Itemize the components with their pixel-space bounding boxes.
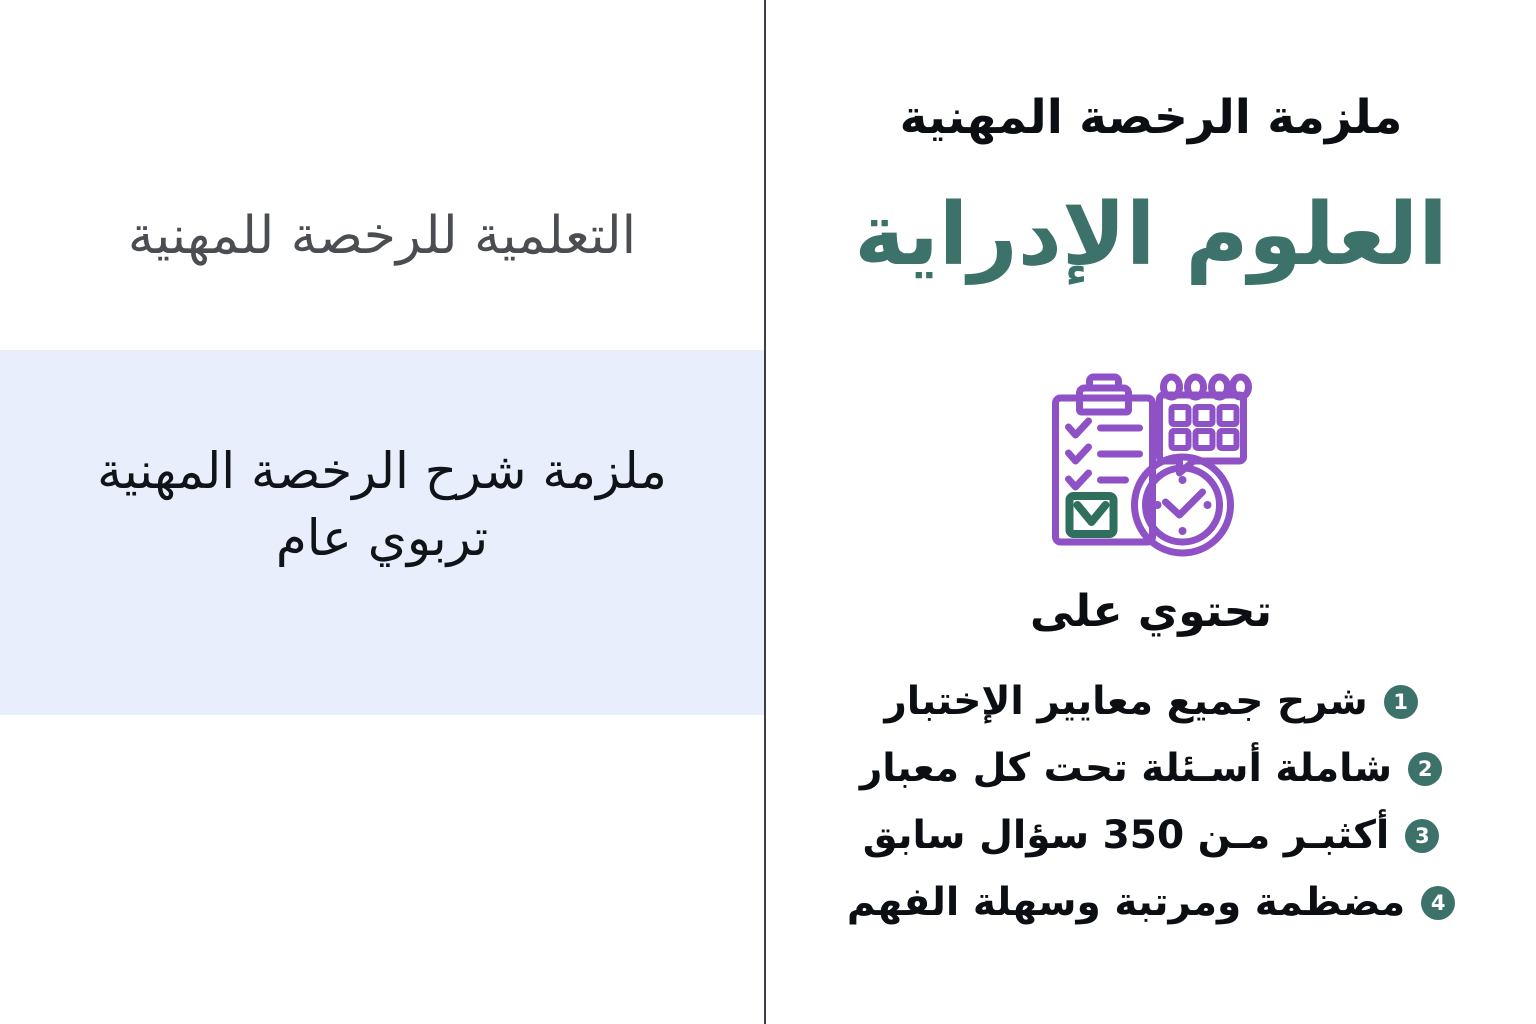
feature-list: 1 شرح جميع معايير الإختبار 2 شاملة أسـئل… [766,676,1536,944]
subject-heading: العلوم الإدراية [766,186,1536,285]
feature-number-badge: 2 [1408,752,1442,786]
promo-page: التعلمية للرخصة للمهنية ملزمة شرح الرخصة… [0,0,1536,1024]
list-item: 1 شرح جميع معايير الإختبار [766,676,1536,728]
highlight-band-text: ملزمة شرح الرخصة المهنية تربوي عام [0,438,764,572]
feature-text: أكثبـر مـن 350 سؤال سابق [863,814,1390,859]
highlight-line-1: ملزمة شرح الرخصة المهنية [97,442,667,500]
feature-number-badge: 4 [1421,886,1455,920]
contains-label: تحتوي على [766,586,1536,637]
left-panel: التعلمية للرخصة للمهنية ملزمة شرح الرخصة… [0,0,764,1024]
left-panel-highlight-band: ملزمة شرح الرخصة المهنية تربوي عام [0,350,764,715]
page-title: ملزمة الرخصة المهنية [766,92,1536,144]
feature-text: شرح جميع معايير الإختبار [884,680,1367,725]
list-item: 4 مضظمة ومرتبة وسهلة الفهم [766,877,1536,929]
clipboard-calendar-clock-icon [1044,365,1259,560]
list-item: 3 أكثبـر مـن 350 سؤال سابق [766,810,1536,862]
list-item: 2 شاملة أسـئلة تحت كل معبار [766,743,1536,795]
feature-text: شاملة أسـئلة تحت كل معبار [860,747,1392,792]
right-panel: ملزمة الرخصة المهنية العلوم الإدراية [766,0,1536,1024]
left-panel-heading: التعلمية للرخصة للمهنية [0,205,764,268]
feature-number-badge: 3 [1405,819,1439,853]
feature-text: مضظمة ومرتبة وسهلة الفهم [847,881,1405,926]
highlight-line-2: تربوي عام [36,505,728,572]
feature-number-badge: 1 [1384,685,1418,719]
